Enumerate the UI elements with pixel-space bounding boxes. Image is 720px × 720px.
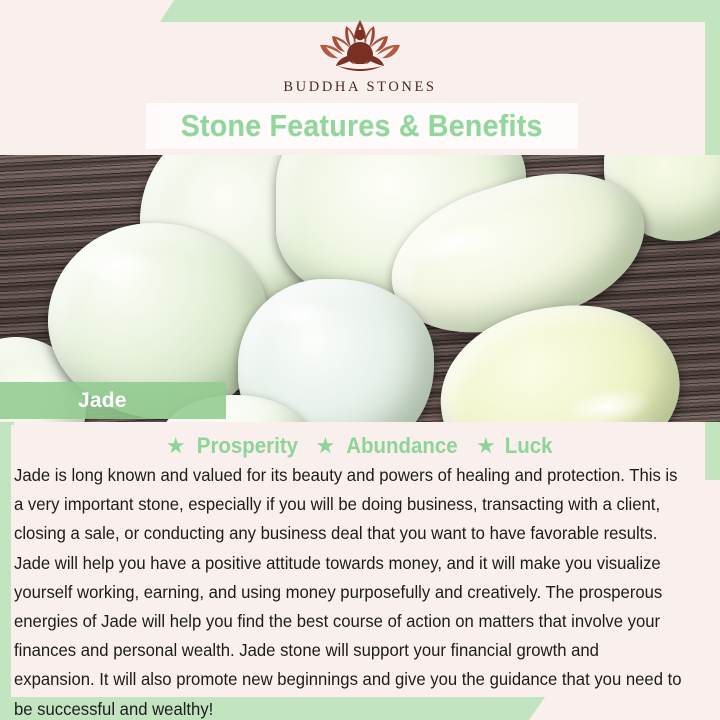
stone-highlight <box>76 245 156 285</box>
description-text: Jade is long known and valued for its be… <box>14 461 682 720</box>
title-banner: Stone Features & Benefits <box>146 103 578 149</box>
left-accent-strip-lower <box>0 420 11 720</box>
benefit-label: Luck <box>505 433 553 459</box>
benefit-label: Prosperity <box>196 433 297 459</box>
benefits-row: ★ Prosperity ★ Abundance ★ Luck <box>0 431 720 461</box>
star-icon: ★ <box>476 435 496 457</box>
stone-name-label: Jade <box>78 389 127 413</box>
brand-logo: BUDDHA STONES <box>0 14 720 104</box>
infographic-card: BUDDHA STONES Stone Features & Benefits … <box>0 0 720 720</box>
stone-name-banner: Jade <box>0 382 226 419</box>
stone-highlight <box>264 299 334 331</box>
page-title: Stone Features & Benefits <box>181 108 543 144</box>
lotus-meditation-figure-icon <box>294 14 426 78</box>
benefit-label: Abundance <box>346 433 457 459</box>
stone-highlight <box>560 382 654 422</box>
star-icon: ★ <box>315 435 335 457</box>
benefit-item-luck: ★ Luck <box>476 433 554 459</box>
benefit-item-prosperity: ★ Prosperity <box>166 433 302 459</box>
brand-name: BUDDHA STONES <box>283 79 436 96</box>
benefit-item-abundance: ★ Abundance <box>315 433 462 459</box>
star-icon: ★ <box>166 435 186 457</box>
